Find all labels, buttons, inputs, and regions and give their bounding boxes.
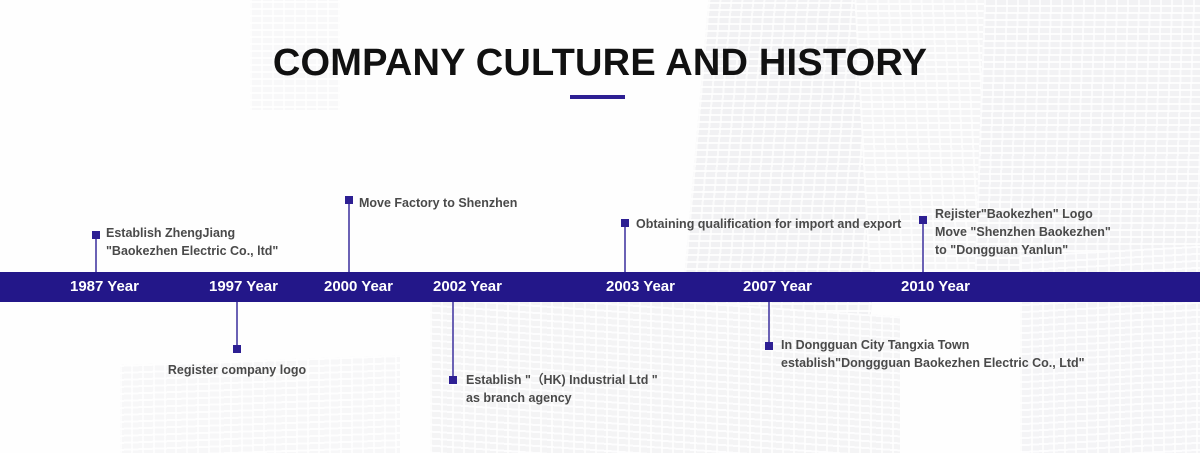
event-line-1: Register company logo xyxy=(137,361,337,379)
connector-line-2003 xyxy=(624,225,626,272)
timeline-year-2007[interactable]: 2007 Year xyxy=(743,276,812,298)
event-label-2010: Rejister"Baokezhen" Logo Move "Shenzhen … xyxy=(935,205,1111,259)
event-marker-2003[interactable] xyxy=(621,219,629,227)
event-line-2: Move "Shenzhen Baokezhen" xyxy=(935,223,1111,241)
event-marker-1997[interactable] xyxy=(233,345,241,353)
title-accent-rule xyxy=(570,95,625,99)
timeline-infographic: COMPANY CULTURE AND HISTORY 1987 Year 19… xyxy=(0,0,1200,453)
event-marker-2000[interactable] xyxy=(345,196,353,204)
timeline-year-1997[interactable]: 1997 Year xyxy=(209,276,278,298)
event-label-2003: Obtaining qualification for import and e… xyxy=(636,215,901,233)
timeline-year-1987[interactable]: 1987 Year xyxy=(70,276,139,298)
event-label-2000: Move Factory to Shenzhen xyxy=(359,194,517,212)
event-label-1987: Establish ZhengJiang "Baokezhen Electric… xyxy=(106,224,278,260)
event-label-1997: Register company logo xyxy=(137,361,337,379)
event-line-2: establish"Donggguan Baokezhen Electric C… xyxy=(781,354,1085,372)
event-line-1: Establish "（HK) Industrial Ltd " xyxy=(466,371,658,389)
event-line-1: Obtaining qualification for import and e… xyxy=(636,215,901,233)
event-line-1: Move Factory to Shenzhen xyxy=(359,194,517,212)
event-line-1: Establish ZhengJiang xyxy=(106,224,278,242)
event-marker-2007[interactable] xyxy=(765,342,773,350)
event-marker-2002[interactable] xyxy=(449,376,457,384)
connector-line-2007 xyxy=(768,302,770,344)
connector-line-2000 xyxy=(348,202,350,272)
timeline-band xyxy=(0,272,1200,302)
connector-line-1987 xyxy=(95,235,97,272)
event-line-1: In Dongguan City Tangxia Town xyxy=(781,336,1085,354)
event-line-1: Rejister"Baokezhen" Logo xyxy=(935,205,1111,223)
timeline-year-2010[interactable]: 2010 Year xyxy=(901,276,970,298)
event-marker-1987[interactable] xyxy=(92,231,100,239)
event-marker-2010[interactable] xyxy=(919,216,927,224)
timeline-year-2002[interactable]: 2002 Year xyxy=(433,276,502,298)
event-line-2: "Baokezhen Electric Co., ltd" xyxy=(106,242,278,260)
timeline-year-2003[interactable]: 2003 Year xyxy=(606,276,675,298)
connector-line-1997 xyxy=(236,302,238,345)
connector-line-2010 xyxy=(922,222,924,272)
event-line-3: to "Dongguan Yanlun" xyxy=(935,241,1111,259)
connector-line-2002 xyxy=(452,302,454,377)
timeline-year-2000[interactable]: 2000 Year xyxy=(324,276,393,298)
event-label-2002: Establish "（HK) Industrial Ltd " as bran… xyxy=(466,371,658,407)
event-label-2007: In Dongguan City Tangxia Town establish"… xyxy=(781,336,1085,372)
event-line-2: as branch agency xyxy=(466,389,658,407)
page-title: COMPANY CULTURE AND HISTORY xyxy=(0,42,1200,85)
